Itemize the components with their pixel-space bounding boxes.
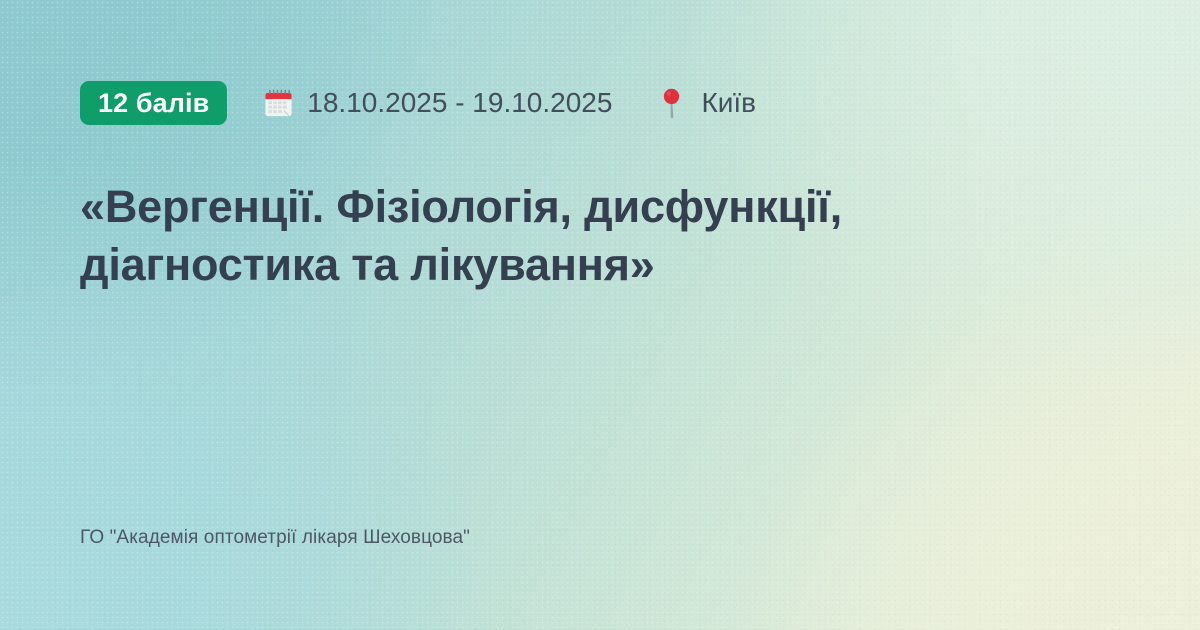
event-date-label: 18.10.2025 - 19.10.2025 [307,89,612,117]
page-title: «Вергенції. Фізіологія, дисфункції, діаг… [80,178,1080,294]
map-pin-icon [660,87,683,120]
event-location: Київ [660,87,756,120]
event-location-label: Київ [701,89,756,117]
event-card: 12 балів [0,0,1200,630]
card-content: 12 балів [0,0,1200,630]
calendar-icon [263,88,294,119]
event-date: 18.10.2025 - 19.10.2025 [263,88,612,119]
event-meta-row: 12 балів [80,80,756,126]
organizer-label: ГО "Академія оптометрії лікаря Шеховцова… [80,525,470,551]
credits-badge: 12 балів [80,81,227,125]
